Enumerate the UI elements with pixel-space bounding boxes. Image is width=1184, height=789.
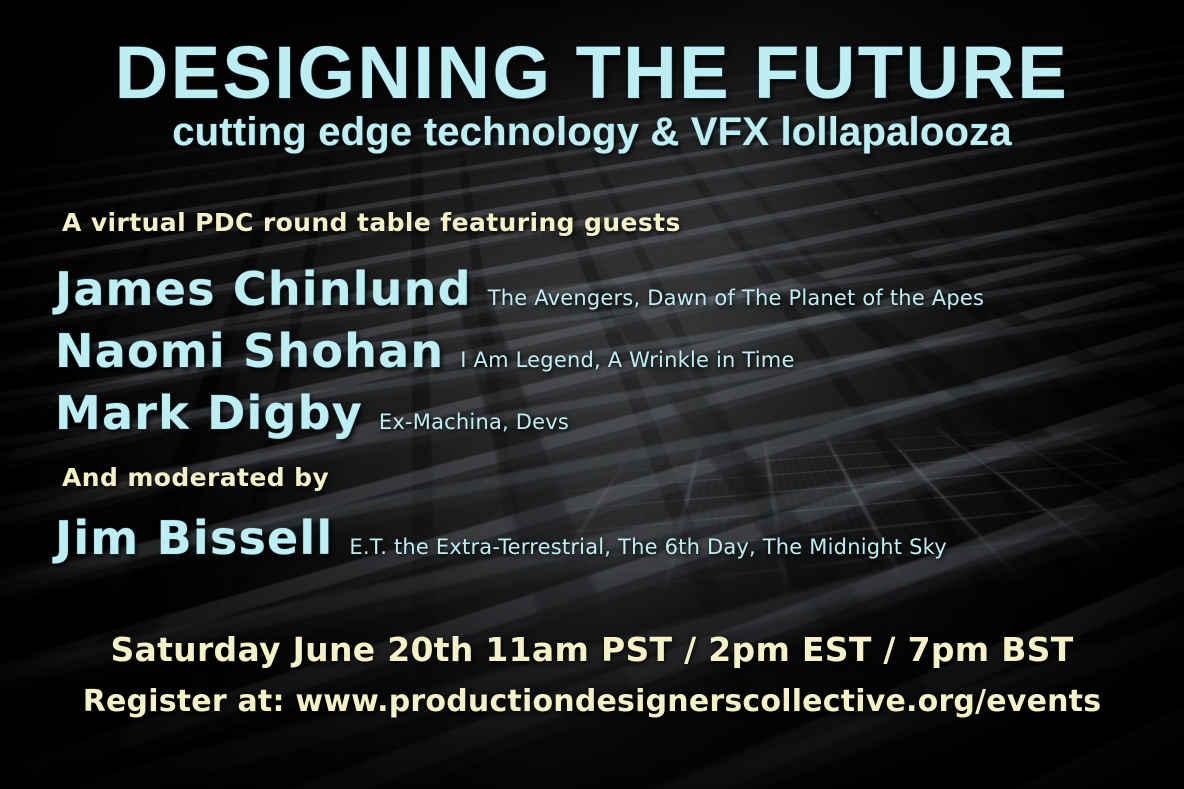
event-datetime: Saturday June 20th 11am PST / 2pm EST / … <box>0 633 1184 666</box>
moderator-credits: E.T. the Extra-Terrestrial, The 6th Day,… <box>349 537 947 558</box>
guest-credits: I Am Legend, A Wrinkle in Time <box>460 350 794 371</box>
guests-intro-label: A virtual PDC round table featuring gues… <box>62 210 681 235</box>
page-title: DESIGNING THE FUTURE <box>0 36 1184 110</box>
guest-name: Naomi Shohan <box>55 328 444 374</box>
page-subtitle: cutting edge technology & VFX lollapaloo… <box>0 112 1184 152</box>
event-poster: DESIGNING THE FUTURE cutting edge techno… <box>0 0 1184 789</box>
poster-content: DESIGNING THE FUTURE cutting edge techno… <box>0 0 1184 789</box>
moderator-row: Jim Bissell E.T. the Extra-Terrestrial, … <box>55 515 947 561</box>
guest-row: Mark Digby Ex-Machina, Devs <box>55 390 569 436</box>
registration-link[interactable]: Register at: www.productiondesignerscoll… <box>0 687 1184 717</box>
moderator-name: Jim Bissell <box>55 515 333 561</box>
moderator-intro-label: And moderated by <box>62 465 329 490</box>
guest-name: James Chinlund <box>55 266 472 312</box>
guest-credits: The Avengers, Dawn of The Planet of the … <box>488 288 984 309</box>
guest-name: Mark Digby <box>55 390 363 436</box>
guest-credits: Ex-Machina, Devs <box>379 412 569 433</box>
guest-row: Naomi Shohan I Am Legend, A Wrinkle in T… <box>55 328 795 374</box>
guest-row: James Chinlund The Avengers, Dawn of The… <box>55 266 984 312</box>
